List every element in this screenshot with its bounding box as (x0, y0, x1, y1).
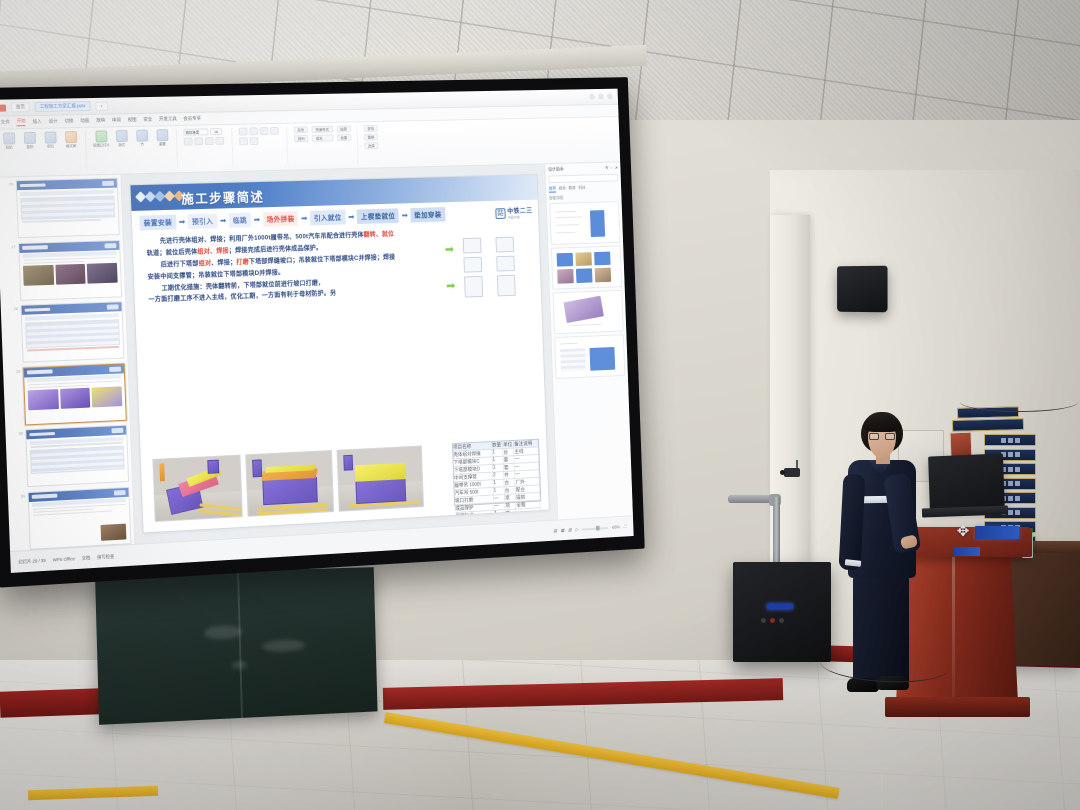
maximize-icon[interactable] (598, 94, 604, 100)
ribbon-group-drawing: 形状 排列 快速样式 填充 轮廓 效果 (294, 125, 359, 165)
td: 套 (504, 456, 515, 463)
flow-step-highlighted: 场外拼装 (263, 211, 299, 227)
td: 1 (493, 479, 504, 486)
thumb-image-row (23, 263, 118, 286)
thumb-brand-logo (104, 243, 116, 248)
section-icon (136, 130, 148, 142)
format-painter-icon (65, 131, 77, 143)
render-module-blue (355, 478, 406, 504)
chalkboard-smudge (232, 661, 247, 669)
subwoofer-amplifier-box (733, 562, 831, 662)
thumbnail-item-selected[interactable]: 29 (15, 363, 127, 425)
normal-view-icon[interactable]: ▤ (553, 528, 557, 534)
menu-item-member[interactable]: 会员专享 (183, 116, 201, 122)
card-line (560, 343, 578, 345)
layout-icon (115, 130, 127, 142)
chip-replace[interactable]: 替换 (364, 134, 378, 141)
bold-icon[interactable] (184, 138, 193, 146)
td: 项 (505, 502, 516, 509)
office-label: WPS Office (53, 556, 75, 562)
thumbnail-preview[interactable] (20, 301, 124, 362)
reset-icon (156, 129, 168, 141)
thumb-table (30, 445, 125, 473)
diagram-arrow-icon: ➡ (445, 243, 455, 257)
chip-select[interactable]: 选择 (364, 142, 378, 149)
pane-tab-tech[interactable]: 科技 (578, 185, 585, 192)
ribbon-button-paste[interactable]: 粘贴 (0, 132, 18, 150)
flow-arrow-icon: ➡ (301, 215, 308, 223)
drawing-chips-col-3: 轮廓 效果 (336, 125, 351, 141)
pane-tabs: 推荐 商务 教育 科技 (549, 184, 619, 193)
pane-title: 设计助手 (548, 167, 564, 173)
thumbnail-item[interactable]: 27 (10, 239, 122, 300)
new-slide-icon (95, 130, 107, 142)
chalkboard-smudge (204, 625, 243, 640)
thumb-brand-logo (107, 304, 119, 309)
th-note: 备注说明 (514, 439, 538, 447)
security-camera (784, 468, 800, 477)
td: 台 (505, 486, 516, 493)
pane-tab-recommended[interactable]: 推荐 (549, 186, 556, 193)
render-crane (159, 463, 164, 481)
template-card[interactable] (553, 290, 624, 334)
slide-image-3[interactable] (337, 445, 424, 511)
design-assistant-pane[interactable]: 设计助手 ⇱ ⋯ ✕ 推荐 商务 教育 科技 智能排版 (544, 162, 633, 519)
card-block (576, 268, 593, 283)
chip-outline[interactable]: 轮廓 (336, 125, 350, 132)
slide-title: 施工步骤简述 (181, 187, 265, 208)
podium-name-plate (975, 526, 1019, 539)
td: 1 (492, 456, 503, 463)
zoom-level: 66% (612, 524, 620, 529)
chip-effects[interactable]: 效果 (337, 134, 351, 141)
menu-item-insert[interactable]: 插入 (33, 119, 42, 125)
wps-logo-icon (0, 104, 6, 111)
thumb-table (25, 319, 120, 348)
body-text-run: ；焊接完成后进行壳体成品保护。 (229, 245, 323, 255)
ribbon-label: 重置 (159, 142, 166, 147)
flow-step: 预引入 (188, 214, 217, 230)
diagram-node (463, 238, 482, 254)
bullets-icon[interactable] (239, 128, 248, 136)
glasses-lens-left (869, 433, 879, 440)
pin-icon[interactable]: ⇱ (605, 165, 608, 170)
ceiling-wire (960, 392, 1078, 412)
ribbon-button-reset[interactable]: 重置 (154, 129, 171, 147)
font-name-input[interactable]: 微软雅黑 (183, 128, 208, 135)
card-photo (575, 252, 592, 266)
indent-increase-icon[interactable] (239, 137, 248, 145)
diagram-node (497, 275, 516, 297)
flow-arrow-icon: ➡ (254, 216, 261, 224)
slide-brand-logo: 路 中铁二三 中国中铁 (495, 205, 533, 221)
thumbnail-number: 26 (8, 180, 14, 186)
underline-icon[interactable] (205, 137, 214, 145)
thumb-photo (23, 265, 54, 286)
italic-icon[interactable] (194, 137, 203, 145)
chip-arrange[interactable]: 排列 (294, 135, 309, 142)
numbering-icon[interactable] (249, 127, 258, 135)
flow-arrow-icon: ➡ (220, 217, 227, 225)
chip-quick-styles[interactable]: 快速样式 (312, 126, 333, 133)
td: 1 (494, 510, 505, 517)
menu-item-design[interactable]: 设计 (49, 119, 58, 125)
ribbon-label: 粘贴 (6, 145, 13, 150)
menu-item-security[interactable]: 安全 (143, 117, 152, 123)
thumb-text-line (22, 219, 100, 223)
chalkboard-divider (237, 571, 243, 718)
baseboard-left (0, 688, 100, 717)
strikethrough-icon[interactable] (215, 137, 224, 145)
flow-arrow-icon: ➡ (348, 213, 355, 221)
td: 2 (493, 472, 504, 479)
card-line (556, 224, 579, 226)
amplifier-led-indicator (767, 604, 793, 609)
body-text-run: 下塔部焊缝坡口；吊装就位下塔部模块C并焊接；焊接 (249, 254, 396, 266)
render-structure (207, 459, 219, 473)
template-search-input[interactable] (548, 174, 618, 183)
flow-arrow-icon: ➡ (402, 212, 408, 220)
td: — (515, 462, 539, 470)
body-text-run-highlight: 翻转、就位 (363, 231, 394, 239)
td: 主线 (514, 447, 538, 455)
card-block (557, 253, 574, 267)
cut-icon (44, 131, 56, 143)
line-spacing-icon[interactable] (270, 127, 279, 135)
td: — (515, 470, 539, 478)
thumb-photo (101, 523, 127, 540)
td: 项 (505, 494, 516, 501)
podium-edge-highlight (952, 553, 955, 703)
menu-item-review[interactable]: 审阅 (112, 117, 121, 123)
slide-counter: 幻灯片 29 / 39 (18, 557, 46, 565)
menu-item-file[interactable]: 文件 (1, 119, 10, 125)
font-row: 微软雅黑 18 (183, 128, 225, 136)
pane-tab-education[interactable]: 教育 (568, 185, 575, 192)
thumbnail-number: 28 (13, 305, 19, 311)
ribbon-label: 剪切 (47, 144, 54, 149)
amplifier-knob (761, 618, 766, 623)
presenter-glasses (869, 433, 895, 440)
ribbon-button-copy[interactable]: 复制 (21, 132, 38, 150)
drawing-chips-col-2: 快速样式 填充 (312, 126, 334, 142)
wall-mounted-speaker (837, 266, 887, 313)
ribbon-label: 版式 (118, 143, 125, 148)
diagram-node (464, 276, 483, 298)
more-icon[interactable]: ⋯ (609, 165, 613, 170)
wps-office-window: 首页 工程施工方案汇报.pptx + 文件 开始 插入 设计 切换 (0, 89, 634, 573)
ribbon-group-paragraph (239, 127, 289, 167)
thumb-image-row (28, 387, 123, 411)
template-card[interactable] (551, 246, 622, 290)
slide-editing-canvas[interactable]: 施工步骤简述 路 中铁二三 中国中铁 装置安装 ➡ 预引入 (121, 164, 557, 544)
red-app-icon[interactable] (112, 572, 121, 573)
flow-arrow-icon: ➡ (179, 218, 186, 226)
podium-sub-plate (954, 547, 980, 556)
ribbon-button-cut[interactable]: 剪切 (42, 131, 59, 149)
slide-diagram-group: ➡ ➡ (444, 232, 534, 306)
diagram-node (463, 257, 482, 273)
paste-icon (3, 132, 15, 144)
card-photo (595, 268, 612, 283)
reading-view-icon[interactable]: ▥ (568, 527, 572, 533)
ribbon-label: 节 (140, 143, 143, 148)
ribbon-group-clipboard: 粘贴 复制 剪切 格式刷 (0, 131, 87, 173)
td: 套 (506, 509, 517, 516)
slide-sorter-icon[interactable]: ▦ (561, 527, 565, 533)
flow-step: 引入就位 (310, 210, 346, 226)
render-crane (252, 459, 262, 477)
zoom-slider[interactable] (582, 527, 609, 530)
projected-image: 首页 工程施工方案汇报.pptx + 文件 开始 插入 设计 切换 (0, 89, 634, 573)
chalkboard (95, 567, 378, 725)
slide-data-table[interactable]: 项目名称数量单位备注说明 壳体组对焊接1台主线 下塔部模块C1套— 下塔部模块D… (452, 438, 541, 506)
menu-item-slideshow[interactable]: 放映 (96, 118, 105, 124)
flow-step: 装置安装 (139, 215, 176, 231)
spellcheck-label[interactable]: 拼写检查 (97, 553, 114, 560)
menu-item-start[interactable]: 开始 (17, 118, 26, 126)
ribbon-group-font: 微软雅黑 18 (183, 128, 233, 168)
slideshow-icon[interactable]: ▷ (575, 526, 578, 532)
drawing-chips-col-1: 形状 排列 (294, 126, 309, 142)
thumbnail-item[interactable]: 26 (8, 178, 120, 239)
thumbnail-preview[interactable] (16, 178, 120, 238)
office-sub-label: 文档 (82, 555, 91, 561)
thumb-photo (60, 388, 91, 409)
thumb-table (20, 195, 115, 219)
card-line (555, 216, 582, 218)
thumb-photo (87, 263, 118, 284)
card-line (555, 211, 577, 213)
thumbnail-number: 31 (20, 492, 26, 498)
card-block (594, 252, 610, 266)
chalkboard-smudge (262, 639, 306, 652)
thumb-photo (28, 389, 59, 410)
thumb-brand-logo (102, 181, 114, 186)
render-module-blue (262, 477, 318, 505)
thumbnail-number: 29 (15, 367, 21, 373)
card-block (590, 347, 616, 371)
diagram-arrow-icon: ➡ (446, 279, 456, 293)
ribbon-label: 格式刷 (66, 144, 76, 149)
ribbon-group-editing: 查找 替换 选择 (363, 125, 384, 164)
body-text-run: 、焊接； (211, 259, 236, 267)
amplifier-knob (770, 618, 775, 623)
pane-header: 设计助手 ⇱ ⋯ ✕ (548, 165, 618, 172)
ribbon-label: 新建幻灯片 (93, 143, 110, 148)
td: — (494, 495, 505, 502)
chip-shapes[interactable]: 形状 (294, 126, 309, 133)
th-unit: 单位 (503, 441, 514, 448)
minimize-icon[interactable] (589, 94, 595, 100)
menu-item-devtools[interactable]: 开发工具 (159, 116, 177, 122)
ribbon-button-new-slide[interactable]: 新建幻灯片 (92, 130, 109, 148)
render-module-yellow (355, 463, 406, 482)
honor-plaque (984, 434, 1036, 446)
ribbon-group-slides: 新建幻灯片 版式 节 重置 (92, 129, 178, 170)
thumb-brand-logo (109, 366, 121, 371)
body-text-run-highlight: 组对 (198, 260, 211, 267)
amplifier-knob-row (761, 618, 784, 623)
thumbnail-item[interactable]: 28 (13, 301, 125, 363)
body-text-run: 后进行下塔部 (160, 260, 198, 268)
tab-document[interactable]: 工程施工方案汇报.pptx (35, 101, 91, 112)
card-photo (563, 296, 603, 323)
honor-plaque-top-secondary (952, 418, 1024, 432)
thumbnail-preview[interactable] (18, 239, 122, 300)
thumbnail-number: 30 (17, 430, 23, 436)
td: 台 (503, 448, 514, 455)
render-crane (343, 455, 353, 471)
thumbnail-preview-current[interactable] (23, 363, 127, 425)
td: 1 (492, 449, 503, 456)
th-qty: 数量 (492, 441, 503, 448)
pane-header-icons: ⇱ ⋯ ✕ (605, 165, 618, 171)
glasses-lens-right (885, 433, 895, 440)
card-photo (557, 269, 574, 284)
ribbon-button-format-painter[interactable]: 格式刷 (62, 131, 79, 149)
presenter-laptop-screen[interactable] (928, 453, 1005, 510)
current-slide[interactable]: 施工步骤简述 路 中铁二三 中国中铁 装置安装 ➡ 预引入 (131, 175, 549, 532)
menu-item-animation[interactable]: 动画 (80, 118, 89, 124)
diagram-node (495, 237, 514, 253)
align-icon[interactable] (260, 127, 269, 135)
close-icon[interactable]: ✕ (614, 165, 617, 170)
thumb-photo (92, 387, 123, 408)
card-table (560, 348, 586, 372)
window-controls (589, 93, 612, 99)
brand-mark-icon: 路 (495, 208, 505, 219)
presenter-hair-fringe (863, 416, 901, 432)
copy-icon (23, 132, 35, 144)
thumb-photo (55, 264, 86, 285)
slide-image-2[interactable] (245, 450, 334, 517)
ribbon-button-section[interactable]: 节 (133, 130, 150, 148)
card-line (571, 324, 601, 327)
template-card[interactable] (549, 201, 620, 245)
paragraph-buttons (239, 127, 281, 145)
add-tab-button[interactable]: + (95, 101, 108, 110)
brand-sub: 中国中铁 (507, 216, 520, 220)
menu-item-transition[interactable]: 切换 (64, 118, 73, 124)
td: — (517, 508, 541, 516)
td: — (494, 502, 505, 509)
td: 件 (504, 471, 515, 478)
td: 1 (493, 464, 504, 471)
card-line (556, 232, 576, 234)
chip-fill[interactable]: 填充 (312, 134, 333, 141)
podium-emblem-icon: ✥ (955, 521, 971, 543)
flow-step: 临跳 (229, 213, 251, 228)
td: 临跳轨道 (455, 511, 494, 520)
flow-step: 上楔垫就位 (357, 209, 399, 225)
slide-body-text[interactable]: 先进行壳体组对、焊接；利用厂外1000t履带吊、500t汽车吊配合进行壳体翻转、… (146, 228, 441, 307)
wall-pipe-vertical (773, 497, 780, 565)
card-block (590, 210, 605, 237)
ribbon-button-layout[interactable]: 版式 (113, 130, 130, 148)
td: — (515, 455, 539, 463)
thumbnail-item[interactable]: 31 (20, 486, 132, 549)
thumbnail-preview[interactable] (25, 425, 129, 488)
indent-decrease-icon[interactable] (250, 137, 259, 145)
font-controls: 微软雅黑 18 (183, 128, 226, 146)
body-text-run-highlight: 打磨 (236, 258, 249, 265)
font-size-input[interactable]: 18 (210, 128, 222, 135)
body-text-run: 轨道；就位后壳体 (147, 248, 198, 256)
slide-thumbnails-pane[interactable]: 26 27 (0, 175, 135, 551)
thumbnail-preview[interactable] (28, 486, 132, 549)
slide-flowchart: 装置安装 ➡ 预引入 ➡ 临跳 ➡ 场外拼装 ➡ 引入就位 ➡ 上楔垫就位 ➡ (139, 207, 445, 230)
thumb-brand-logo (111, 428, 123, 433)
presenter-leg-divider (881, 774, 883, 810)
slide-diamond-decoration (137, 192, 184, 201)
chip-find[interactable]: 查找 (363, 125, 377, 132)
scene-root: ✥ 首页 (0, 0, 1080, 810)
menu-item-view[interactable]: 视图 (128, 117, 137, 123)
td: 台 (504, 479, 515, 486)
td: 套 (504, 464, 515, 471)
fit-to-window-icon[interactable]: ⛶ (623, 524, 626, 529)
diagram-node (496, 256, 515, 272)
projection-surface: 首页 工程施工方案汇报.pptx + 文件 开始 插入 设计 切换 (0, 89, 634, 573)
slide-picture-row (152, 445, 424, 521)
projection-screen: 首页 工程施工方案汇报.pptx + 文件 开始 插入 设计 切换 (0, 77, 645, 587)
close-icon[interactable] (607, 93, 613, 99)
thumbnail-number: 27 (10, 243, 16, 249)
body-text-run-highlight: 组对、焊接 (197, 248, 229, 256)
amplifier-knob (779, 618, 784, 623)
pane-section-label: 智能排版 (549, 194, 619, 202)
ribbon-label: 复制 (26, 145, 33, 150)
template-card[interactable] (554, 334, 625, 379)
flow-step: 垫加穿装 (410, 207, 445, 222)
thumb-brand-logo (114, 489, 126, 495)
tab-home[interactable]: 首页 (11, 102, 30, 112)
editing-chips: 查找 替换 选择 (363, 125, 378, 149)
brand-name: 中铁二三 (507, 208, 533, 215)
thumbnail-item[interactable]: 30 (17, 425, 129, 488)
status-right-group: ▤ ▦ ▥ ▷ 66% ⛶ (553, 524, 626, 534)
slide-image-1[interactable] (152, 454, 242, 521)
pane-tab-business[interactable]: 商务 (559, 186, 566, 193)
font-style-buttons (184, 137, 226, 146)
td: 1 (494, 487, 505, 494)
